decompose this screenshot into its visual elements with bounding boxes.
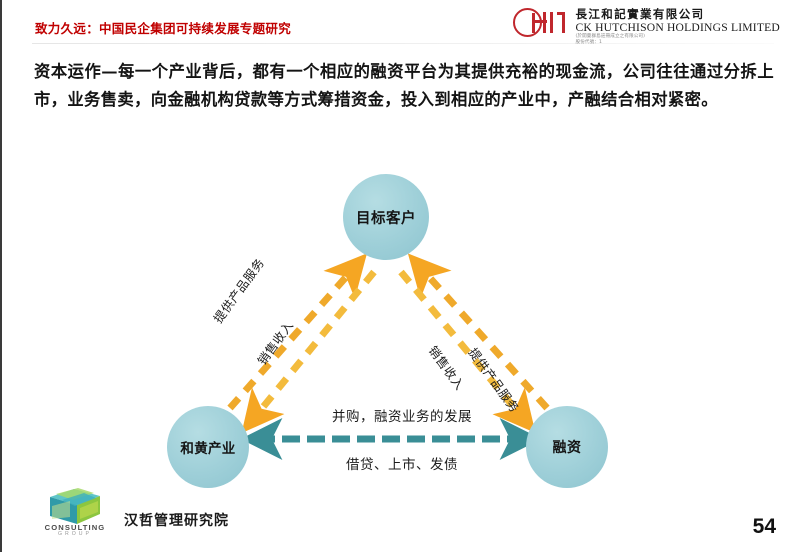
- slide-header: 致力久远：中国民企集团可持续发展专题研究 長江和記實業有限公司 CK HUTCH…: [2, 0, 800, 55]
- ck-fine-print-stock-code: 股份代號：1: [576, 40, 781, 46]
- edge-label-bottom-lower: 借贷、上市、发债: [2, 453, 800, 473]
- arrow-financing-to-customer: [421, 268, 547, 408]
- ck-name-chinese: 長江和記實業有限公司: [576, 8, 781, 21]
- ck-hutchison-monogram-icon: [513, 7, 569, 40]
- presentation-slide: 致力久远：中国民企集团可持续发展专题研究 長江和記實業有限公司 CK HUTCH…: [0, 0, 800, 552]
- ck-name-english: CK HUTCHISON HOLDINGS LIMITED: [576, 21, 781, 34]
- header-title: 致力久远：中国民企集团可持续发展专题研究: [35, 18, 291, 37]
- group-wordmark: GROUP: [42, 531, 108, 537]
- body-paragraph: 资本运作—每一个产业背后，都有一个相应的融资平台为其提供充裕的现金流，公司往往通…: [34, 58, 774, 113]
- page-number: 54: [753, 515, 776, 539]
- hanzhe-cube-icon: [44, 486, 106, 524]
- ck-hutchison-logo: 長江和記實業有限公司 CK HUTCHISON HOLDINGS LIMITED…: [513, 7, 781, 46]
- node-target-customer[interactable]: 目标客户: [343, 174, 429, 260]
- ck-hutchison-wordmark: 長江和記實業有限公司 CK HUTCHISON HOLDINGS LIMITED…: [576, 7, 781, 46]
- hanzhe-consulting-logo: CONSULTING GROUP: [42, 486, 108, 538]
- edge-label-bottom-upper: 并购，融资业务的发展: [2, 405, 800, 425]
- institute-name: 汉哲管理研究院: [124, 510, 229, 530]
- slide-footer: CONSULTING GROUP 汉哲管理研究院 54: [2, 482, 800, 552]
- triangle-flow-diagram: 目标客户 和黄产业 融资 提供产品服务 销售收入 提供产品服务 销售收入 并购，…: [2, 150, 800, 500]
